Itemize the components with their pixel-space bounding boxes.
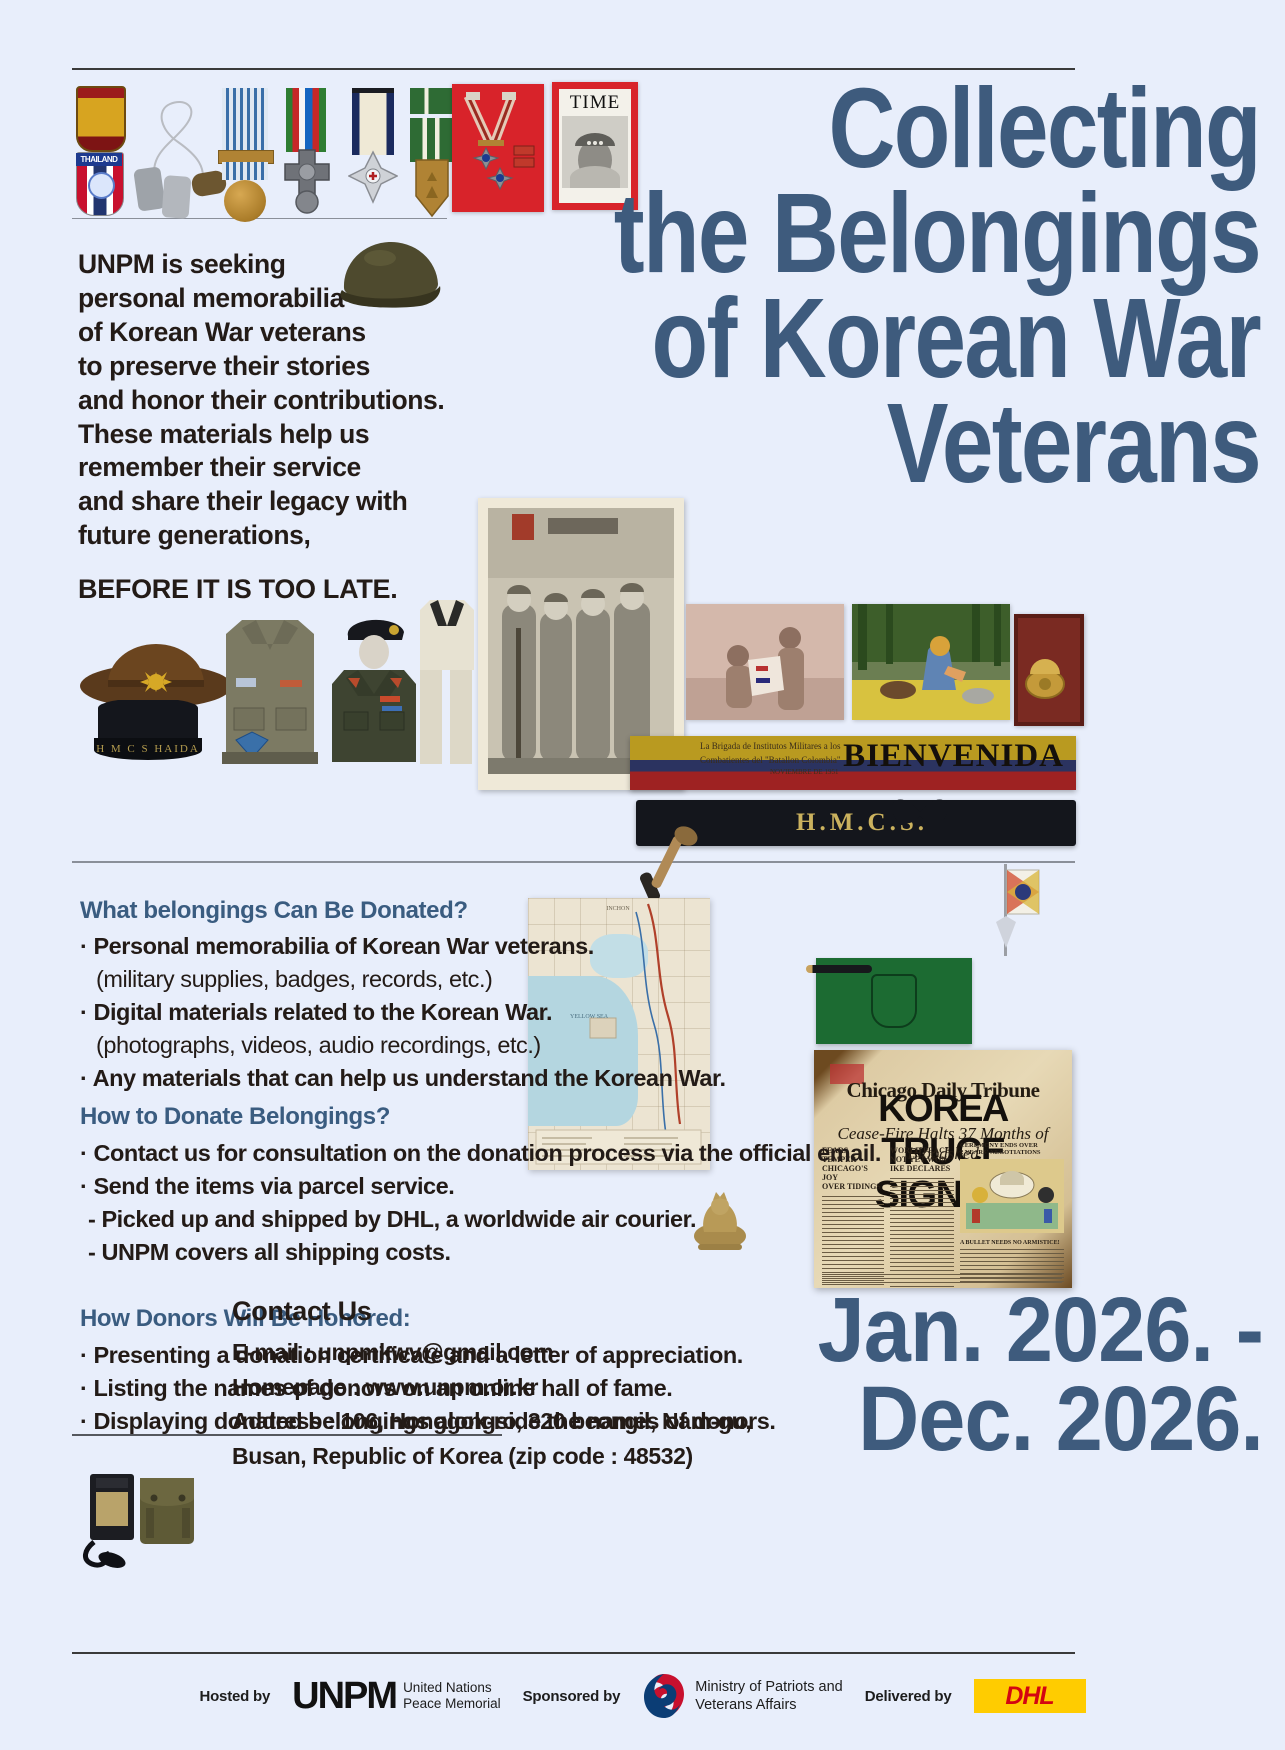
newspaper-deck-line: IKE DECLARES — [890, 1164, 954, 1173]
intro-line: to preserve their stories — [78, 350, 498, 384]
newspaper-deck-line: 2 YEARS' NEGOTIATIONS — [960, 1149, 1064, 1156]
signal-pennant-icon — [974, 864, 1042, 956]
newspaper-deck-line: CEREMONY ENDS OVER — [960, 1142, 1064, 1149]
list-item: - UNPM covers all shipping costs. — [80, 1236, 881, 1269]
contact-email[interactable]: E-mail : unpmkwv@gmail.com — [232, 1335, 702, 1370]
unpm-subtitle-line-2: Peace Memorial — [403, 1696, 501, 1712]
intro-line: future generations, — [78, 519, 498, 553]
contact-title: Contact Us — [232, 1296, 702, 1327]
newspaper-cartoon-icon — [960, 1159, 1064, 1233]
thailand-badge-label: THAILAND — [76, 153, 122, 166]
campaign-date-line-1: Jan. 2026. - — [748, 1286, 1263, 1375]
officer-tunic — [328, 600, 420, 766]
korea-service-medal-ribbon-icon — [222, 88, 268, 154]
newspaper-deck-line: NOT YET WON — [890, 1155, 954, 1164]
mpva-logo: Ministry of Patriots and Veterans Affair… — [642, 1672, 842, 1720]
mpva-subtitle-line-2: Veterans Affairs — [695, 1696, 842, 1714]
intro-line: and share their legacy with — [78, 485, 498, 519]
cross-medal-ribbon-icon — [286, 88, 326, 152]
swagger-stick-icon — [806, 965, 872, 973]
unpm-logo: UNPM United Nations Peace Memorial — [292, 1677, 500, 1715]
intro-line: of Korean War veterans — [78, 316, 498, 350]
newspaper-cartoon-block: CEREMONY ENDS OVER 2 YEARS' NEGOTIATIONS… — [960, 1142, 1064, 1285]
title-line-3: of Korean War — [555, 286, 1260, 391]
hmcs-banner-bow-icon — [880, 788, 960, 858]
list-item: · Send the items via parcel service. — [80, 1170, 881, 1203]
bienvenida-small-line-1: La Brigada de Institutos Militares a los — [700, 740, 840, 752]
photo-woman-laundry-color — [852, 604, 1010, 720]
bienvenida-banner-text: BIENVENIDA — [843, 738, 1064, 775]
section-heading-what-can-be-donated: What belongings Can Be Donated? — [80, 897, 468, 925]
section-list-what-can-be-donated: · Personal memorabilia of Korean War vet… — [80, 930, 726, 1094]
divider-footer — [72, 1652, 1075, 1654]
dog-tag-1-icon — [133, 166, 166, 211]
mpva-subtitle-line-1: Ministry of Patriots and — [695, 1678, 842, 1696]
hosted-by-label: Hosted by — [199, 1688, 270, 1705]
unpm-wordmark: UNPM — [292, 1677, 396, 1715]
photo-soldiers-group-image — [488, 508, 674, 774]
flag-crest-icon — [871, 974, 917, 1028]
list-item: - Picked up and shipped by DHL, a worldw… — [80, 1203, 881, 1236]
cross-medal-icon — [281, 148, 333, 220]
slouch-hat-icon — [78, 614, 234, 710]
title-line-2: the Belongings — [555, 181, 1260, 286]
taegeuk-icon — [642, 1672, 686, 1720]
campaign-date-line-2: Dec. 2026. — [748, 1375, 1263, 1464]
unit-shield-badge-icon — [76, 86, 126, 152]
list-item: · Any materials that can help us underst… — [80, 1062, 726, 1095]
poster-root: THAILAND — [0, 0, 1285, 1750]
contact-address-line-2: Busan, Republic of Korea (zip code : 485… — [232, 1439, 702, 1474]
title-line-4: Veterans — [555, 391, 1260, 496]
section-heading-how-to-donate: How to Donate Belongings? — [80, 1103, 390, 1131]
list-item: (photographs, videos, audio recordings, … — [80, 1029, 726, 1062]
bienvenida-banner: La Brigada de Institutos Militares a los… — [630, 736, 1076, 790]
list-item: · Contact us for consultation on the don… — [80, 1137, 881, 1170]
korea-service-medal-disc-icon — [224, 180, 266, 222]
mpva-subtitle: Ministry of Patriots and Veterans Affair… — [695, 1678, 842, 1714]
section-list-how-to-donate: · Contact us for consultation on the don… — [80, 1137, 881, 1269]
bienvenida-small-line-2: Combatientes del "Batallon Colombia" — [700, 754, 841, 766]
newspaper-deck-line: WORLD PEACE — [890, 1146, 954, 1155]
unpm-subtitle: United Nations Peace Memorial — [403, 1680, 501, 1711]
battledress-jacket — [222, 614, 318, 764]
dhl-wordmark: DHL — [1005, 1682, 1053, 1711]
silver-cross-medal-icon — [348, 146, 398, 208]
intro-line: These materials help us — [78, 418, 498, 452]
steel-helmet-icon — [336, 232, 446, 310]
white-dress-uniform — [416, 596, 478, 766]
list-item: · Digital materials related to the Korea… — [80, 996, 726, 1029]
dhl-logo: DHL — [974, 1679, 1086, 1713]
contact-address-line-1: Address : 106, Honggok-ro, 320 beongil, … — [232, 1404, 702, 1439]
sailor-cap-icon: H M C S HAIDA — [84, 700, 212, 762]
photo-two-soldiers-sepia — [686, 604, 844, 720]
wooden-mallet-icon — [634, 824, 714, 904]
delivered-by-label: Delivered by — [865, 1688, 952, 1705]
footer: Hosted by UNPM United Nations Peace Memo… — [0, 1666, 1285, 1726]
intro-line: remember their service — [78, 451, 498, 485]
un-emblem-icon — [88, 172, 115, 199]
title-line-1: Collecting — [555, 76, 1260, 181]
bienvenida-small-line-3: NOVIEMBRE DE 1951 — [770, 768, 838, 777]
korea-service-medal-ribbon-lower-icon — [222, 162, 268, 180]
contact-block: Contact Us E-mail : unpmkwv@gmail.com Ho… — [232, 1296, 702, 1473]
newspaper-cartoon-caption: A BULLET NEEDS NO ARMISTICE! — [960, 1240, 1064, 1246]
page-title: Collecting the Belongings of Korean War … — [400, 76, 1260, 496]
field-radio-and-bag-icon — [78, 1462, 208, 1570]
divider-under-medals — [72, 218, 447, 219]
campaign-dates: Jan. 2026. - Dec. 2026. — [703, 1286, 1263, 1464]
intro-line: and honor their contributions. — [78, 384, 498, 418]
sponsored-by-label: Sponsored by — [523, 1688, 621, 1705]
silver-cross-ribbon-icon — [352, 88, 394, 155]
award-case-medal-icon — [1020, 654, 1070, 710]
divider-mid — [72, 861, 1075, 863]
svg-text:H M C S HAIDA: H M C S HAIDA — [96, 743, 200, 755]
newspaper-deck-mid: WORLD PEACE NOT YET WON IKE DECLARES — [890, 1146, 954, 1288]
dog-tag-2-icon — [162, 175, 192, 219]
svg-text:INCHON: INCHON — [606, 906, 630, 912]
list-item: · Personal memorabilia of Korean War vet… — [80, 930, 726, 963]
unpm-subtitle-line-1: United Nations — [403, 1680, 501, 1696]
list-item: (military supplies, badges, records, etc… — [80, 963, 726, 996]
contact-homepage[interactable]: Homepage : www.unpm.or.kr — [232, 1370, 702, 1405]
